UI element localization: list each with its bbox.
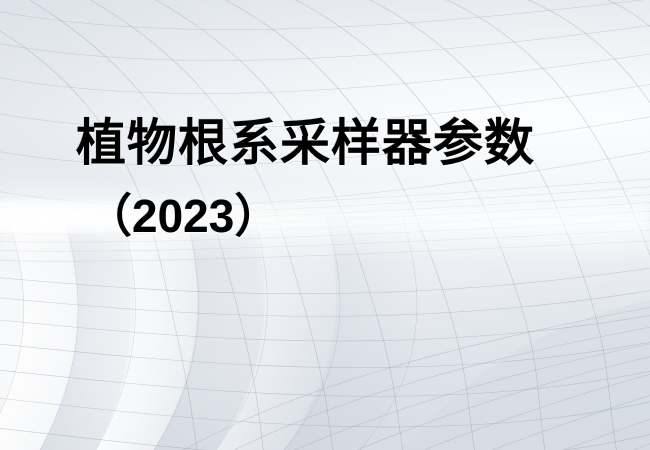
- title-slide: 植物根系采样器参数 （2023）: [0, 0, 650, 450]
- slide-title: 植物根系采样器参数 （2023）: [0, 118, 650, 240]
- slide-title-line-1: 植物根系采样器参数: [0, 118, 650, 169]
- slide-title-line-2: （2023）: [0, 193, 650, 240]
